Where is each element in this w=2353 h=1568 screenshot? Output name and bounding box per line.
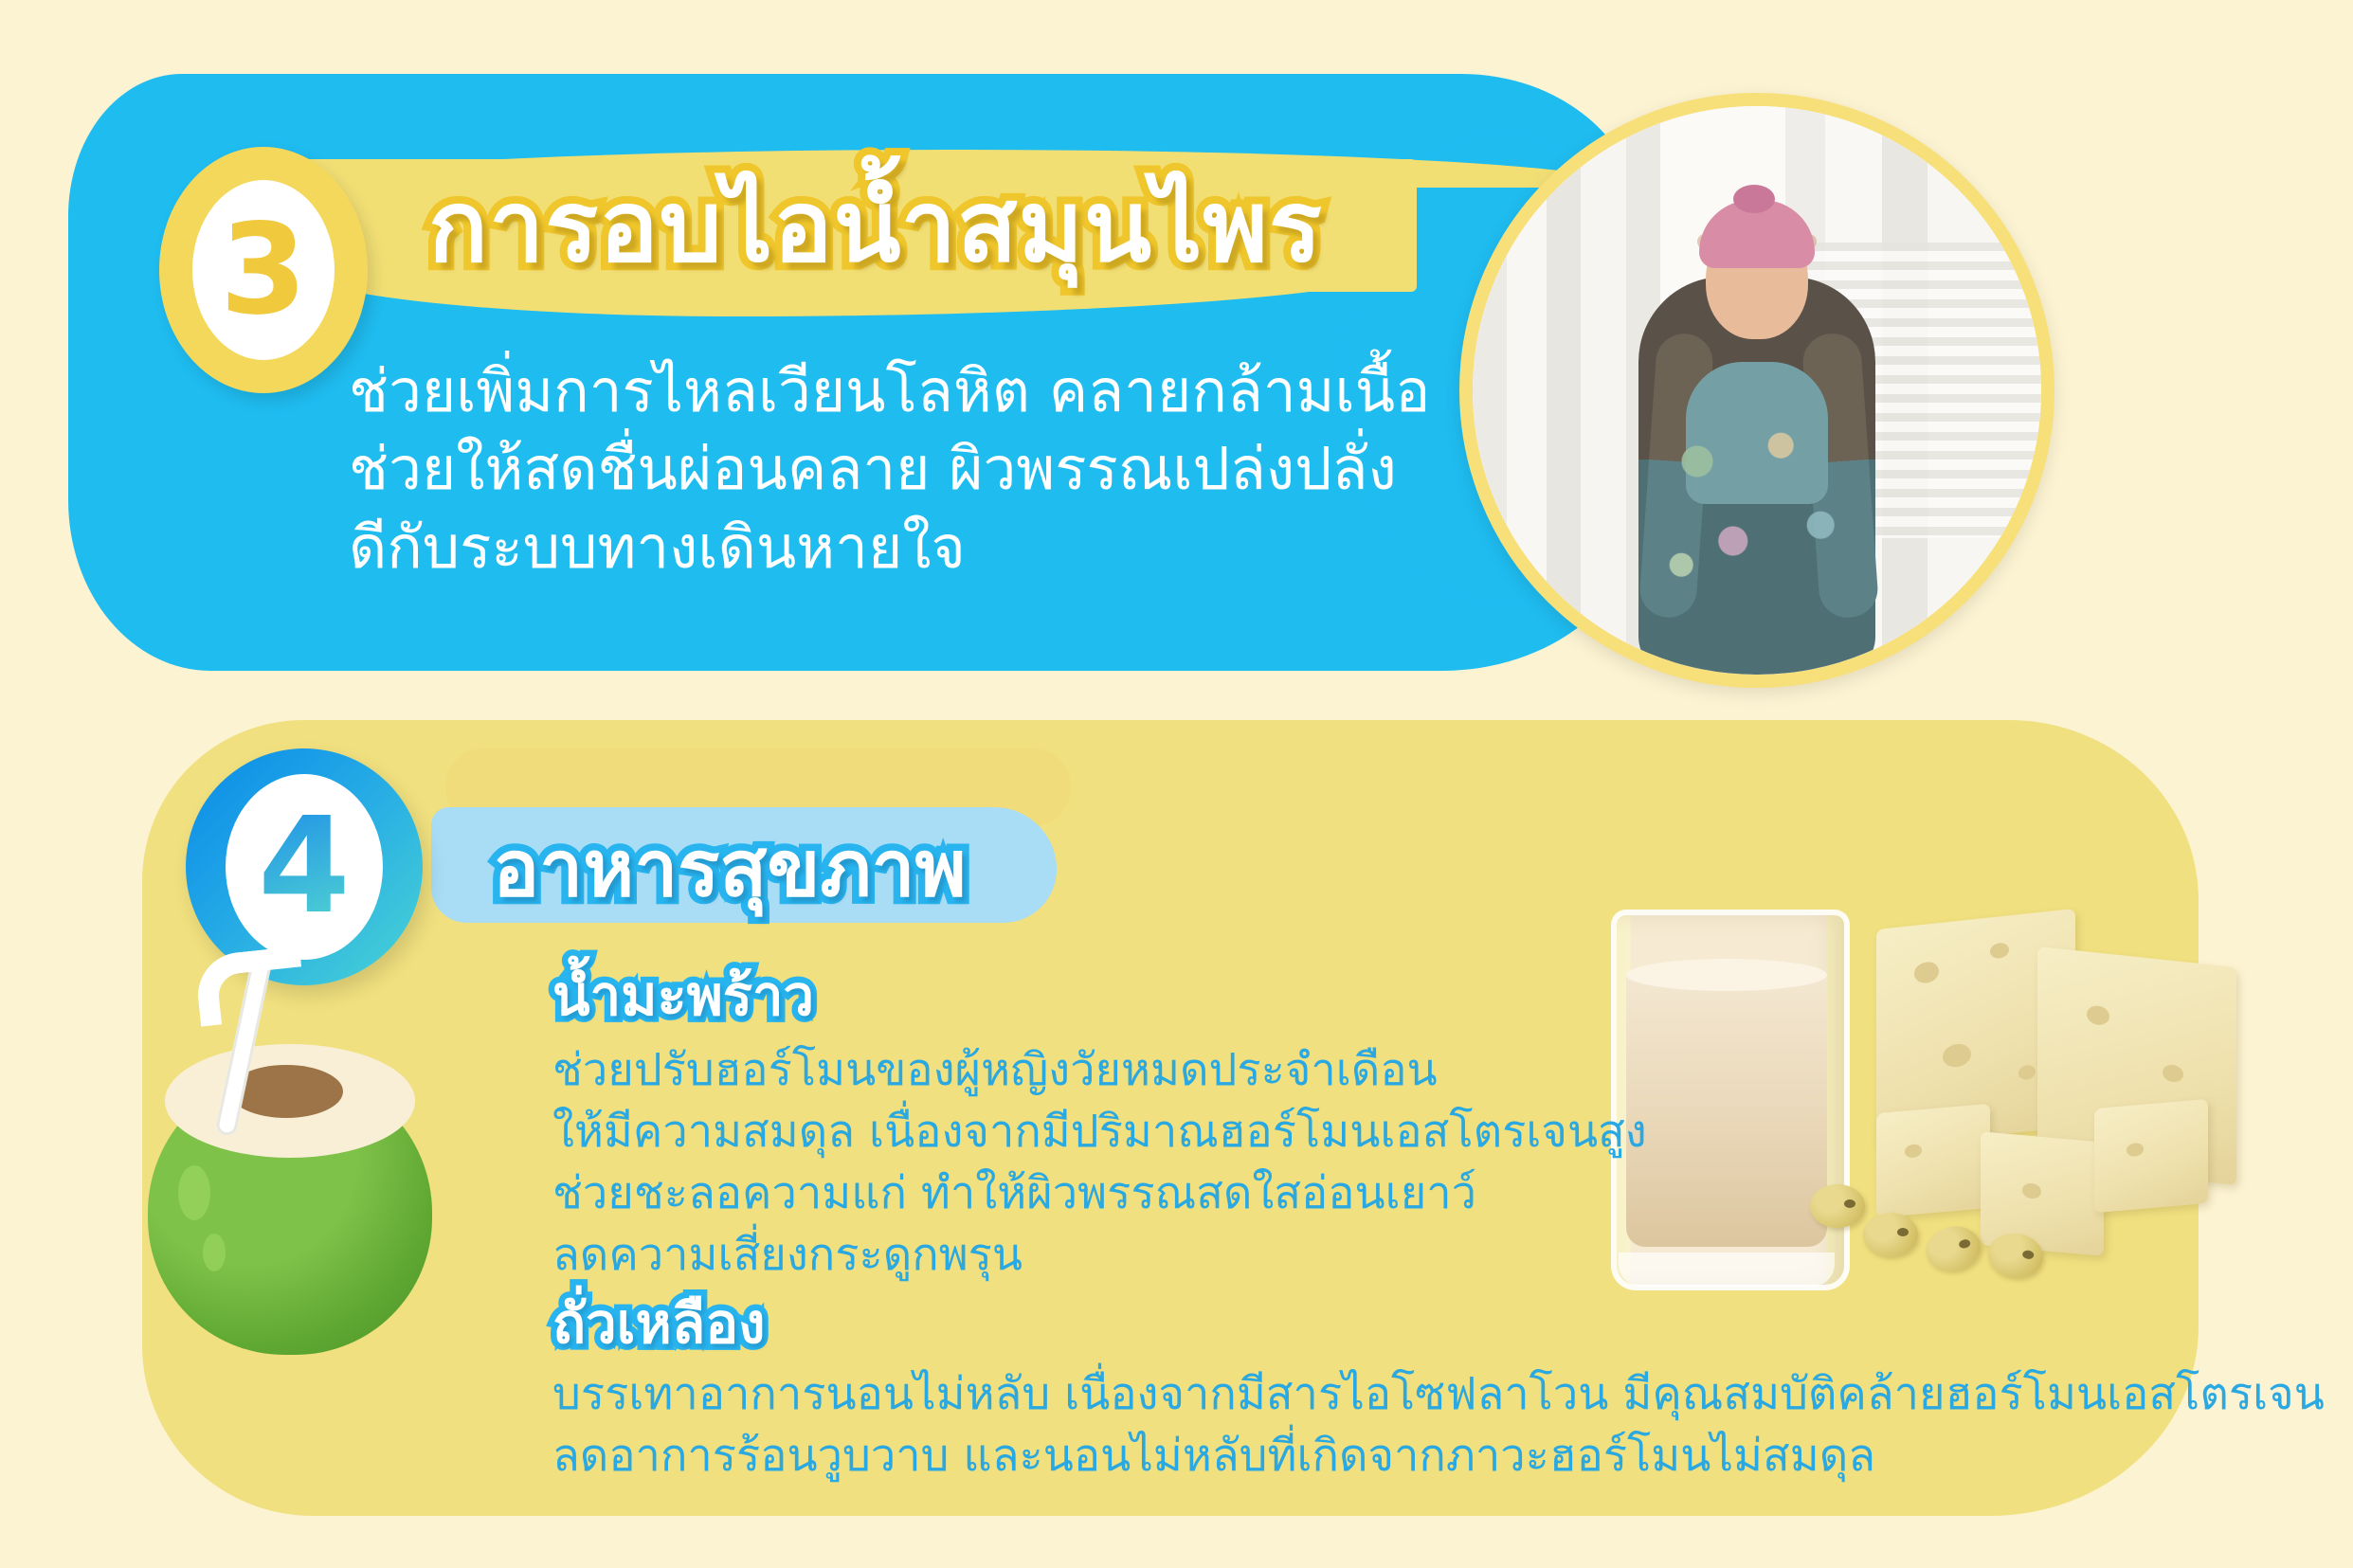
coconut-body-line-1: ช่วยปรับฮอร์โมนของผู้หญิงวัยหมดประจำเดือ… — [552, 1040, 1974, 1102]
coconut-body-line-3: ช่วยชะลอความแก่ ทำให้ผิวพรรณสดใสอ่อนเยาว… — [552, 1163, 1974, 1225]
infographic-poster: 3 การอบไอน้ำสมุนไพร ช่วยเพิ่มการไหลเวียน… — [0, 0, 2353, 1568]
section-3-body-line-3: ดีกับระบบทางเดินหายใจ — [349, 509, 1467, 586]
section-3-body-line-1: ช่วยเพิ่มการไหลเวียนโลหิต คลายกล้ามเนื้อ — [349, 352, 1467, 430]
tofu-hole — [2018, 1064, 2036, 1080]
coconut-illustration — [91, 966, 498, 1364]
section-4-number-badge: 4 — [186, 748, 423, 985]
section-4-number: 4 — [258, 801, 350, 933]
coconut-body-line-4: ลดความเสี่ยงกระดูกพรุน — [552, 1225, 1974, 1287]
tofu-hole — [2127, 1143, 2144, 1158]
section-3-body-line-2: ช่วยให้สดชื่นผ่อนคลาย ผิวพรรณเปล่งปลั่ง — [349, 430, 1467, 508]
section-3-number: 3 — [220, 207, 307, 333]
section-3-photo — [1459, 93, 2054, 688]
section-3-number-badge: 3 — [159, 147, 368, 393]
photo-floral-pattern — [1657, 402, 1856, 601]
tofu-hole — [1990, 942, 2009, 959]
item-heading-soybean: ถั่วเหลือง — [552, 1279, 765, 1367]
coconut-highlight-1 — [178, 1165, 210, 1220]
tofu-hole — [2022, 1182, 2041, 1199]
section-3-number-disc: 3 — [192, 180, 335, 360]
tofu-hole — [2163, 1064, 2183, 1083]
coconut-highlight-2 — [203, 1234, 226, 1271]
soy-body-line-1: บรรเทาอาการนอนไม่หลับ เนื่องจากมีสารไอโซ… — [552, 1364, 2211, 1426]
tofu-hole — [1914, 961, 1939, 984]
coconut-body-line-2: ให้มีความสมดุล เนื่องจากมีปริมาณฮอร์โมนเ… — [552, 1102, 1974, 1163]
soy-body-line-2: ลดอาการร้อนวูบวาบ และนอนไม่หลับที่เกิดจา… — [552, 1426, 2211, 1487]
tofu-cube-3 — [2094, 1099, 2208, 1213]
item-heading-coconut-water: น้ำมะพร้าว — [552, 951, 814, 1039]
section-4-title: อาหารสุขภาพ — [493, 807, 967, 930]
section-4-number-disc: 4 — [226, 774, 383, 960]
section-3-title: การอบไอน้ำสมุนไพร — [428, 172, 1323, 280]
item-body-coconut-water: ช่วยปรับฮอร์โมนของผู้หญิงวัยหมดประจำเดือ… — [552, 1040, 1974, 1286]
tofu-hole — [2087, 1004, 2109, 1026]
section-3-body: ช่วยเพิ่มการไหลเวียนโลหิต คลายกล้ามเนื้อ… — [349, 352, 1467, 586]
item-body-soybean: บรรเทาอาการนอนไม่หลับ เนื่องจากมีสารไอโซ… — [552, 1364, 2211, 1487]
soy-milk-foam — [1626, 959, 1827, 991]
